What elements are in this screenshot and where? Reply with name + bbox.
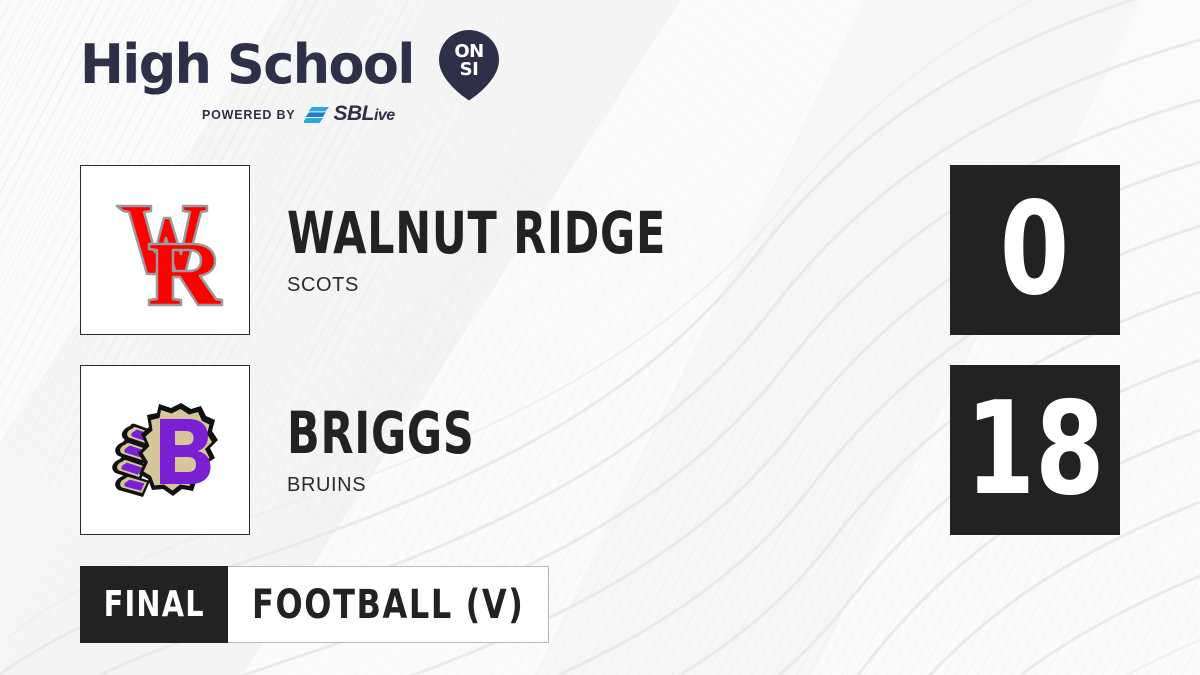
team-score: 18 <box>966 386 1105 514</box>
sport-label-box: FOOTBALL (V) <box>228 566 549 643</box>
team-name: WALNUT RIDGE <box>287 203 666 263</box>
team-score-box: 0 <box>950 165 1120 335</box>
pin-label-si: SI <box>460 59 479 80</box>
team-identity: BRIGGS BRUINS <box>287 365 540 535</box>
status-badge-label: FINAL <box>103 586 204 624</box>
on-si-pin-icon: ON SI <box>438 29 500 101</box>
walnut-ridge-wr-monogram-logo-icon <box>97 182 233 318</box>
team-name: BRIGGS <box>287 403 475 463</box>
team-score: 0 <box>1000 186 1069 314</box>
sblive-wordmark-suffix: ive <box>374 107 395 124</box>
brand-logo: High School ON SI POWERED BY SBLive <box>80 34 510 125</box>
status-badge: FINAL <box>80 566 228 643</box>
sblive-wordmark: SBLive <box>333 105 394 125</box>
sblive-logo: SBLive <box>304 105 394 125</box>
team-logo-card <box>80 165 250 335</box>
team-identity: WALNUT RIDGE SCOTS <box>287 165 799 335</box>
sport-label: FOOTBALL (V) <box>252 584 524 626</box>
team-mascot: BRUINS <box>287 473 540 497</box>
game-status-bar: FINAL FOOTBALL (V) <box>80 566 549 643</box>
team-row: BRIGGS BRUINS 18 <box>80 365 1120 535</box>
briggs-bruins-bear-claw-b-logo-icon <box>97 382 233 518</box>
brand-wordmark: High School <box>80 38 414 92</box>
team-mascot: SCOTS <box>287 273 799 297</box>
team-logo-card <box>80 365 250 535</box>
sblive-s-mark-icon <box>304 106 330 124</box>
powered-by-label: POWERED BY <box>202 108 295 122</box>
brand-logo-row: High School ON SI <box>80 34 510 96</box>
powered-by-row: POWERED BY SBLive <box>80 105 510 125</box>
scoreboard-graphic: High School ON SI POWERED BY SBLive <box>0 0 1200 675</box>
team-row: WALNUT RIDGE SCOTS 0 <box>80 165 1120 335</box>
team-score-box: 18 <box>950 365 1120 535</box>
sblive-wordmark-main: SBL <box>333 102 374 125</box>
